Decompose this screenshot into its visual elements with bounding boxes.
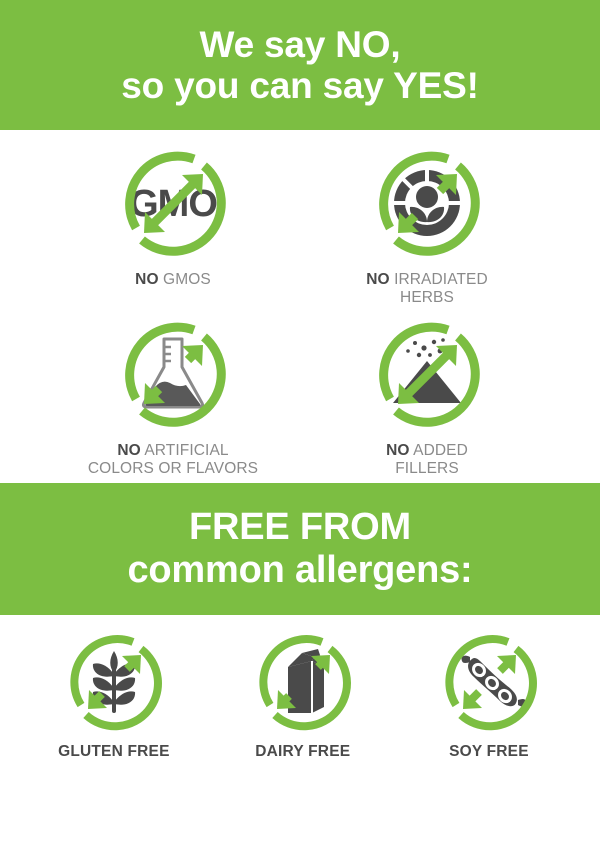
claim-prefix: NO [117,442,140,459]
claim-no-added-fillers: NO ADDED FILLERS [300,315,554,478]
claim-label-no-irradiated-herbs: NO IRRADIATED HERBS [366,271,488,307]
allergen-soy-free: SOY FREE [436,629,542,761]
claim-prefix: NO [386,442,409,459]
no-artificial-colors-flask-icon [114,315,232,433]
dairy-free-carton-icon [250,629,356,735]
allergen-gluten-free: GLUTEN FREE [58,629,170,761]
claim-prefix: NO [366,271,389,288]
claim-prefix: NO [135,271,158,288]
headline-top-line1: We say NO, [200,24,401,65]
claim-no-gmos: GMO NO GMOS [46,144,300,307]
claim-no-irradiated-herbs: NO IRRADIATED HERBS [300,144,554,307]
headline-bottom-line1: FREE FROM [189,506,411,549]
no-gmo-icon: GMO [114,144,232,262]
claim-text-line2: HERBS [366,289,488,307]
soy-free-bean-icon [436,629,542,735]
allergen-label-soy-free: SOY FREE [449,743,529,761]
allergen-label-gluten-free: GLUTEN FREE [58,743,170,761]
headline-bottom-line2: common allergens: [127,549,472,592]
claim-text-line2: COLORS OR FLAVORS [88,460,258,478]
claim-text-line2: FILLERS [386,460,468,478]
no-irradiated-herbs-icon [368,144,486,262]
claim-label-no-artificial-colors: NO ARTIFICIAL COLORS OR FLAVORS [88,442,258,478]
grid-row-spacer [46,307,300,315]
no-claims-grid: GMO NO GMOS [0,130,600,483]
allergen-dairy-free: DAIRY FREE [250,629,356,761]
no-added-fillers-icon [368,315,486,433]
headline-banner-bottom: FREE FROM common allergens: [0,483,600,615]
claim-text-line1: GMOS [163,271,211,288]
grid-row-spacer [300,307,554,315]
claim-label-no-gmos: NO GMOS [135,271,211,289]
allergen-label-dairy-free: DAIRY FREE [255,743,350,761]
headline-top-line2: so you can say YES! [121,65,478,106]
claim-text-line1: ARTIFICIAL [144,442,228,459]
claim-label-no-added-fillers: NO ADDED FILLERS [386,442,468,478]
allergen-free-row: GLUTEN FREE [0,615,600,761]
claim-text-line1: ADDED [413,442,468,459]
headline-banner-top: We say NO, so you can say YES! [0,0,600,130]
claim-text-line1: IRRADIATED [394,271,488,288]
gluten-free-wheat-icon [61,629,167,735]
claim-no-artificial-colors: NO ARTIFICIAL COLORS OR FLAVORS [46,315,300,478]
